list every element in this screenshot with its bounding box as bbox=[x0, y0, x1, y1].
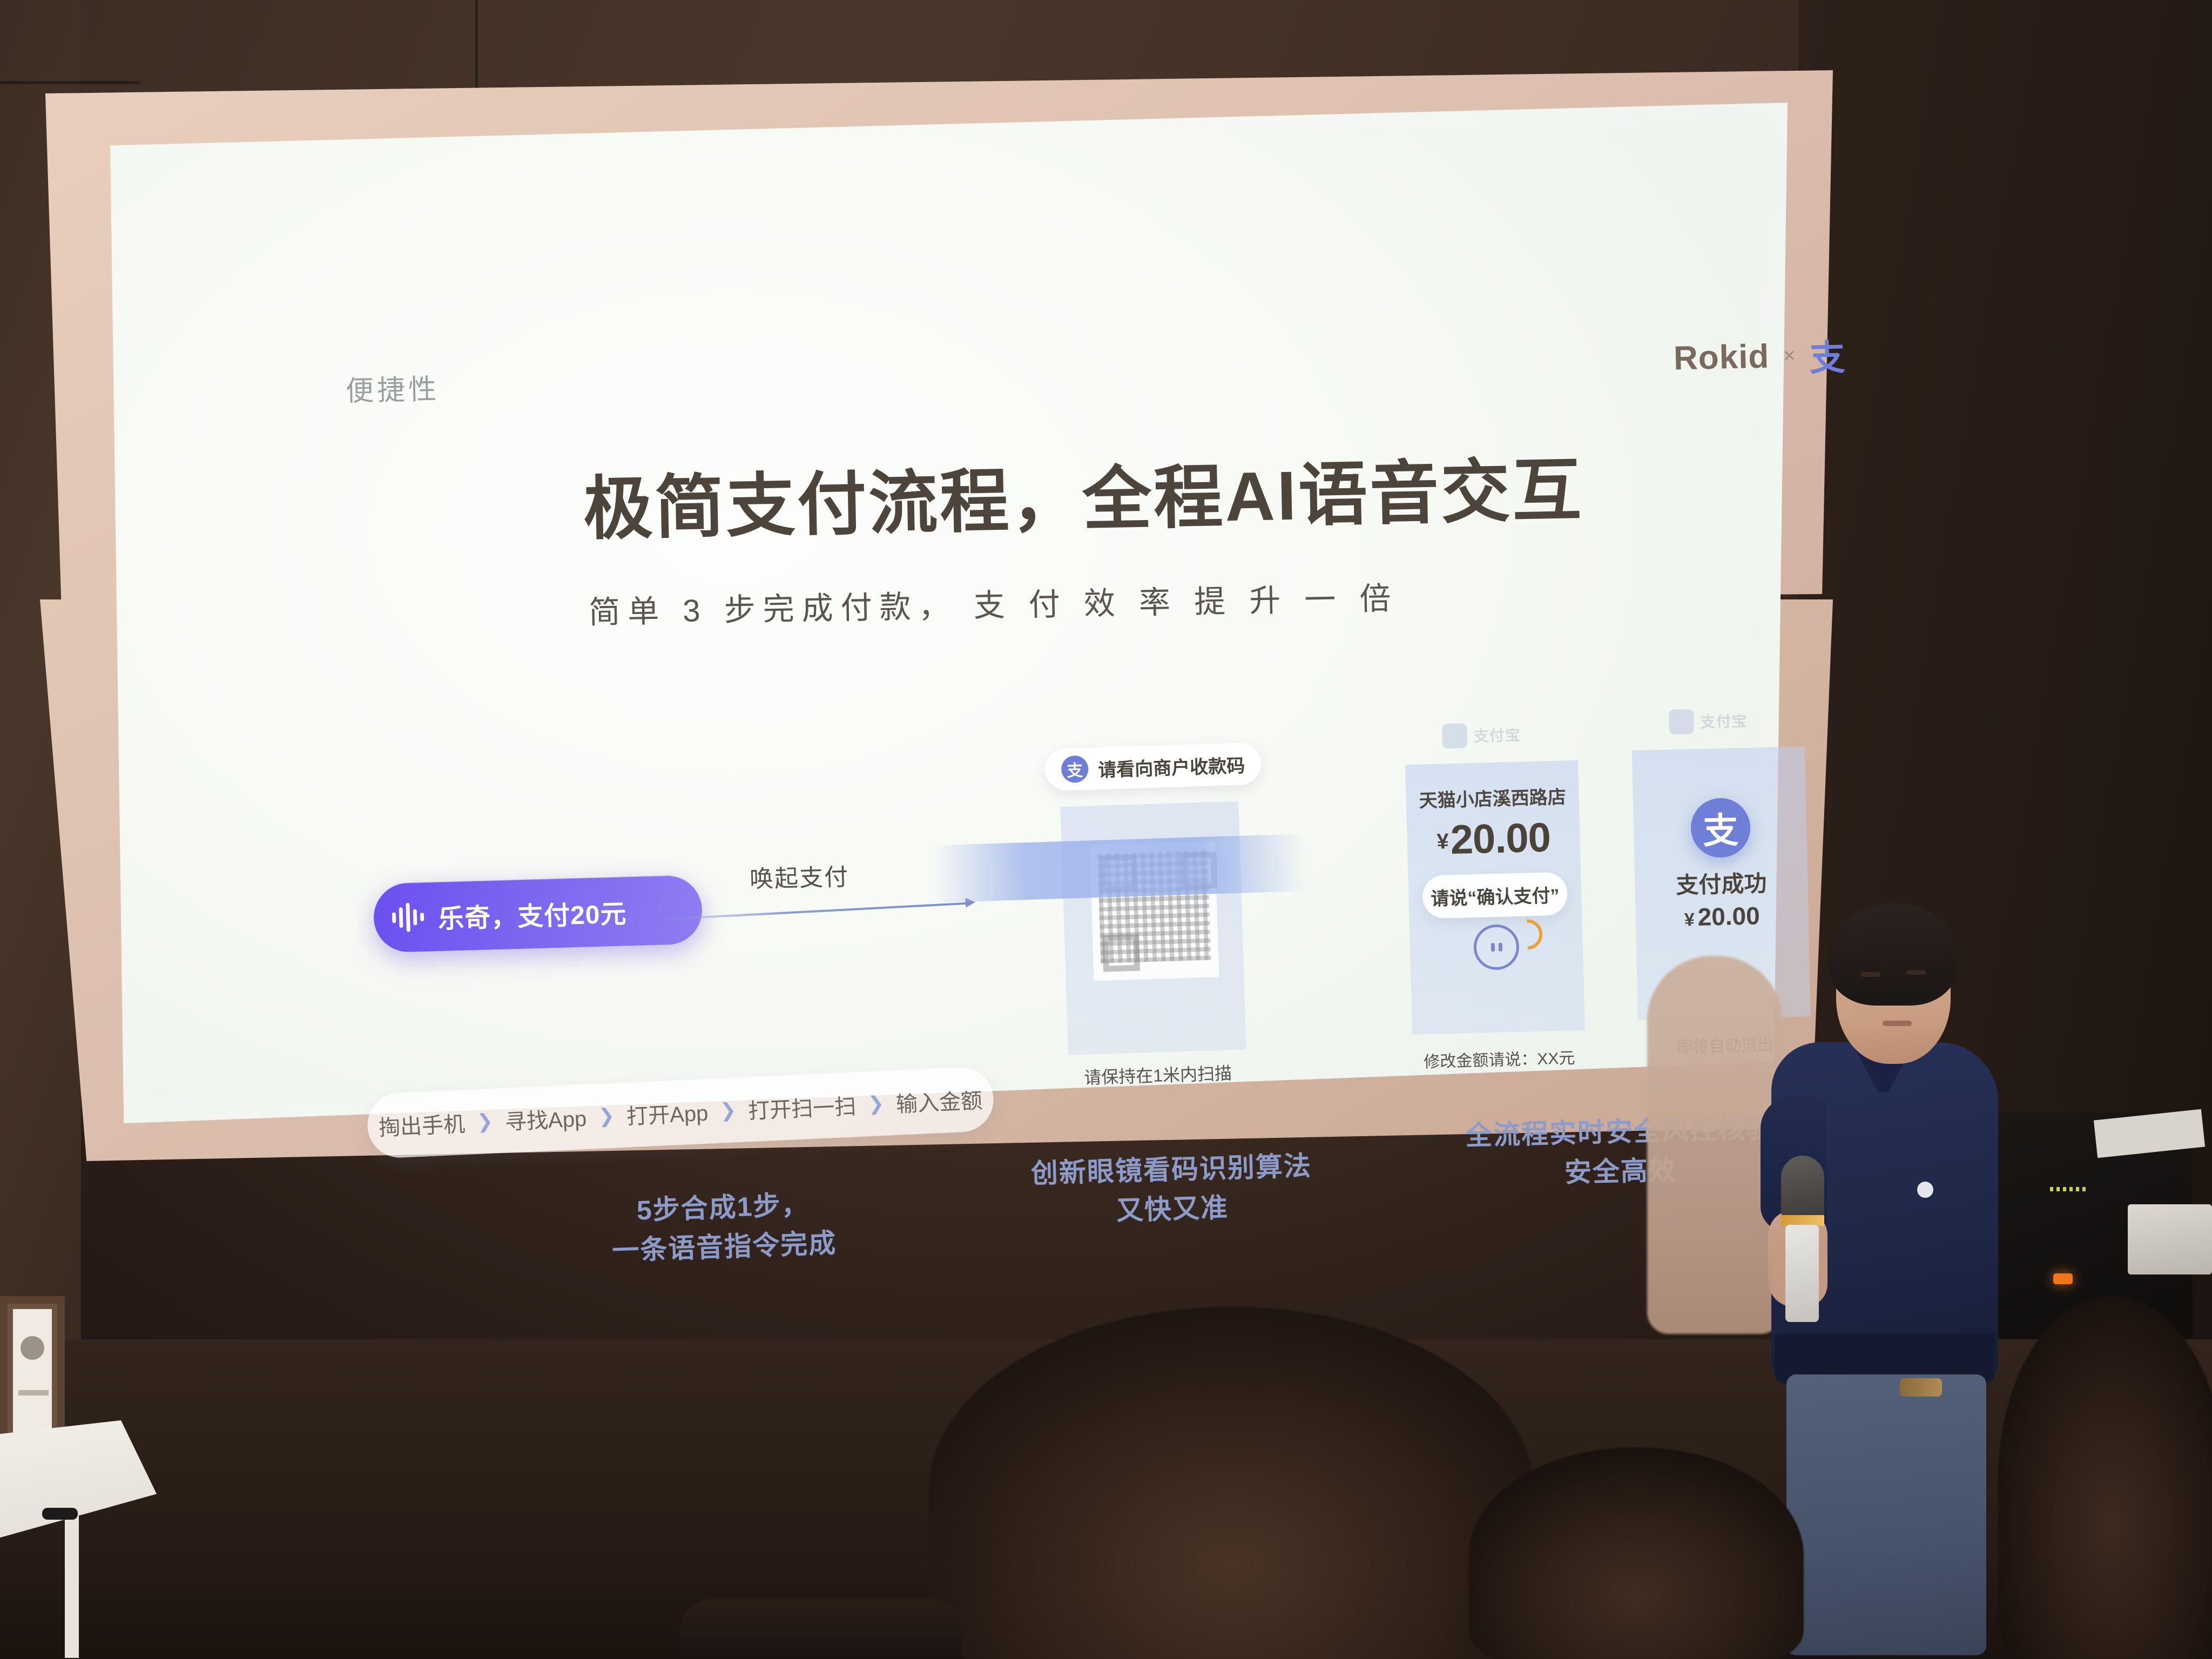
chevron-right-icon: ❯ bbox=[598, 1104, 615, 1128]
voice-command-text: 乐奇，支付20元 bbox=[437, 892, 627, 935]
chevron-right-icon: ❯ bbox=[476, 1110, 494, 1133]
alipay-wordmark: 支付宝 bbox=[1700, 710, 1748, 732]
breadcrumb-item: 打开扫一扫 bbox=[747, 1089, 857, 1125]
av-white-device bbox=[2128, 1204, 2212, 1274]
presenter-hair bbox=[1829, 903, 1957, 1006]
stage1-caption: 5步合成1步， 一条语音指令完成 bbox=[571, 1183, 876, 1271]
alipay-mark-icon bbox=[1442, 723, 1467, 748]
breadcrumb-item: 打开App bbox=[626, 1096, 709, 1131]
presenter-eye-right bbox=[1906, 970, 1926, 975]
av-led-strip-icon bbox=[2050, 1187, 2088, 1191]
amount-value: 20.00 bbox=[1450, 814, 1551, 863]
audience-head-center bbox=[929, 1307, 1534, 1659]
rokid-wordmark: Rokid bbox=[1673, 337, 1770, 377]
slide-kicker: 便捷性 bbox=[345, 366, 440, 409]
flow-arrow-label: 唤起支付 bbox=[749, 858, 849, 894]
presenter-jeans bbox=[1786, 1374, 1986, 1655]
store-name: 天猫小店溪西路店 bbox=[1406, 782, 1579, 813]
scan-hint-pill: 支 请看向商户收款码 bbox=[1044, 742, 1262, 791]
brand-lockup: Rokid × 支 bbox=[1673, 329, 1845, 385]
microphone-ring-icon bbox=[1781, 1215, 1824, 1226]
payment-amount: ¥20.00 bbox=[1407, 813, 1581, 865]
photo-scene: 便捷性 Rokid × 支 极简支付流程，全程AI语音交互 简单 3 步完成付款… bbox=[0, 0, 2212, 1659]
av-power-led-icon bbox=[2053, 1273, 2073, 1284]
alipay-watermark: 支付宝 bbox=[1442, 722, 1521, 749]
alipay-icon: 支 bbox=[1061, 755, 1089, 783]
alipay-mark-icon bbox=[1669, 709, 1694, 734]
microphone-handle bbox=[1785, 1225, 1819, 1322]
currency-symbol: ¥ bbox=[1684, 909, 1695, 930]
presenter-eye-left bbox=[1861, 972, 1880, 977]
currency-symbol: ¥ bbox=[1437, 829, 1448, 854]
presenter-mouth bbox=[1883, 1021, 1912, 1026]
payment-card-body: 天猫小店溪西路店 ¥20.00 请说“确认支付” bbox=[1405, 760, 1585, 1035]
scan-stage: 支 请看向商户收款码 请保持在1米内扫描 bbox=[1021, 741, 1312, 1095]
presenter-logo-icon bbox=[1917, 1182, 1933, 1198]
scan-hint-text: 请看向商户收款码 bbox=[1097, 751, 1245, 782]
audience-head-right bbox=[1469, 1447, 1804, 1659]
confirm-prompt-pill: 请说“确认支付” bbox=[1422, 872, 1568, 919]
alipay-watermark: 支付宝 bbox=[1669, 708, 1748, 734]
breadcrumb-item: 寻找App bbox=[504, 1101, 588, 1136]
handheld-microphone bbox=[1781, 1156, 1824, 1220]
audience-shoulder-left bbox=[680, 1599, 961, 1659]
chevron-right-icon: ❯ bbox=[719, 1098, 737, 1122]
audience-head-far-right bbox=[1998, 1296, 2212, 1659]
scan-distance-note: 请保持在1米内扫描 bbox=[1068, 1059, 1247, 1089]
alipay-glyph-icon: 支 bbox=[1809, 329, 1845, 381]
amount-value: 20.00 bbox=[1697, 901, 1760, 931]
alipay-logo-icon: 支 bbox=[1690, 798, 1751, 858]
breadcrumb-item: 掏出手机 bbox=[378, 1107, 466, 1142]
chevron-right-icon: ❯ bbox=[867, 1092, 885, 1115]
voice-command-pill: 乐奇，支付20元 bbox=[373, 875, 703, 953]
qr-corner-icon bbox=[1102, 934, 1140, 972]
breadcrumb-item: 输入金额 bbox=[895, 1083, 983, 1118]
voice-waveform-icon bbox=[392, 902, 424, 933]
slide-title: 极简支付流程，全程AI语音交互 bbox=[582, 433, 1653, 553]
scan-line-overlay bbox=[932, 834, 1306, 903]
stage2-caption: 创新眼镜看码识别算法 又快又准 bbox=[1003, 1145, 1340, 1233]
presenter-belt bbox=[1900, 1378, 1942, 1397]
alipay-wordmark: 支付宝 bbox=[1473, 724, 1521, 746]
brand-separator-icon: × bbox=[1783, 344, 1795, 367]
